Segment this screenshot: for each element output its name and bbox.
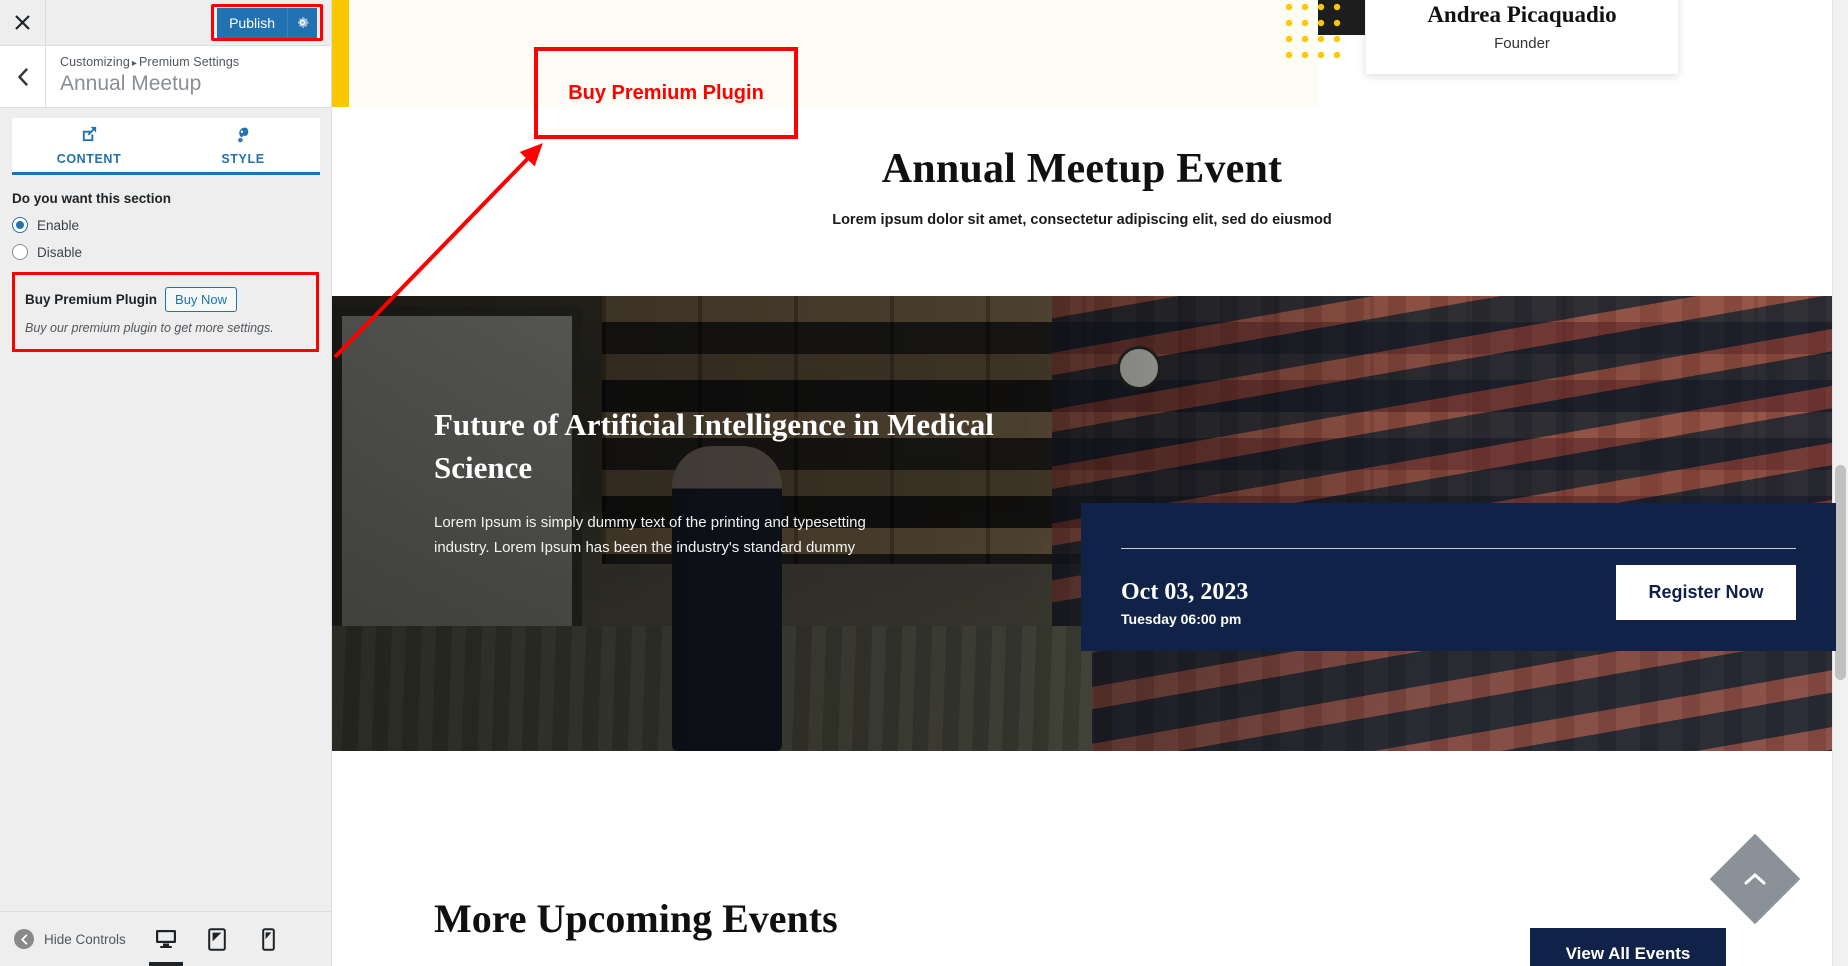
panel-body: Do you want this section Enable Disable … — [0, 175, 331, 352]
sidebar-footer: Hide Controls — [0, 911, 331, 966]
customizer-sidebar: Publish Customizing▸Premium Settings — [0, 0, 332, 966]
yellow-accent-bar — [332, 0, 349, 107]
preview-scrollbar[interactable] — [1832, 0, 1848, 966]
view-all-events-button[interactable]: View All Events — [1530, 928, 1726, 966]
dot-grid-decoration — [1284, 2, 1348, 64]
preview-top-band — [332, 0, 1318, 107]
tab-content-label: CONTENT — [57, 152, 122, 166]
sidebar-panel-header: Customizing▸Premium Settings Annual Meet… — [0, 46, 331, 108]
gear-icon[interactable] — [287, 8, 317, 38]
breadcrumb-root[interactable]: Customizing — [60, 55, 130, 69]
close-icon[interactable] — [0, 0, 46, 45]
premium-promo-title: Buy Premium Plugin — [25, 292, 157, 307]
radio-disable[interactable]: Disable — [12, 244, 319, 260]
site-preview-pane[interactable]: Andrea Picaquadio Founder Annual Meetup … — [332, 0, 1848, 966]
page-title: Annual Meetup — [60, 71, 239, 97]
featured-event-banner[interactable]: Future of Artificial Intelligence in Med… — [332, 296, 1836, 751]
event-date: Oct 03, 2023 — [1121, 579, 1248, 606]
customizer-screen: Publish Customizing▸Premium Settings — [0, 0, 1848, 966]
hide-controls-label: Hide Controls — [44, 932, 126, 947]
tab-content[interactable]: CONTENT — [12, 118, 166, 172]
event-time: Tuesday 06:00 pm — [1121, 611, 1248, 627]
paint-brush-icon — [234, 125, 253, 149]
more-events-title: More Upcoming Events — [434, 895, 838, 942]
tablet-icon[interactable] — [202, 919, 232, 959]
topbar-spacer — [46, 0, 211, 45]
section-subtitle: Lorem ipsum dolor sit amet, consectetur … — [332, 212, 1832, 228]
collapse-arrow-icon — [14, 929, 34, 949]
edit-pencil-icon — [80, 125, 99, 149]
founder-card: Andrea Picaquadio Founder — [1366, 0, 1678, 74]
radio-disable-input[interactable] — [12, 244, 28, 260]
event-date-card: Oct 03, 2023 Tuesday 06:00 pm Register N… — [1081, 503, 1836, 651]
radio-enable-label: Enable — [37, 218, 79, 233]
preview-scrollbar-thumb[interactable] — [1835, 465, 1846, 680]
event-datetime: Oct 03, 2023 Tuesday 06:00 pm — [1121, 579, 1248, 627]
breadcrumb-separator: ▸ — [130, 58, 139, 69]
section-header: Annual Meetup Event Lorem ipsum dolor si… — [332, 107, 1832, 228]
premium-promo-description: Buy our premium plugin to get more setti… — [25, 321, 306, 335]
monitor-icon[interactable] — [151, 919, 181, 959]
tab-style[interactable]: STYLE — [166, 118, 320, 172]
mobile-icon[interactable] — [253, 919, 283, 959]
publish-highlight: Publish — [211, 4, 323, 41]
publish-button[interactable]: Publish — [217, 8, 287, 38]
radio-enable[interactable]: Enable — [12, 217, 319, 233]
radio-enable-input[interactable] — [12, 217, 28, 233]
divider — [1121, 548, 1796, 549]
premium-promo-highlight: Buy Premium Plugin Buy Now Buy our premi… — [12, 272, 319, 352]
chevron-left-icon[interactable] — [0, 46, 46, 107]
panel-tabs: CONTENT STYLE — [12, 118, 320, 175]
section-question-label: Do you want this section — [12, 191, 319, 206]
hide-controls-button[interactable]: Hide Controls — [0, 929, 126, 949]
premium-promo-row: Buy Premium Plugin Buy Now — [25, 287, 306, 312]
sidebar-topbar: Publish — [0, 0, 331, 46]
banner-copy: Future of Artificial Intelligence in Med… — [434, 404, 994, 561]
chevron-up-icon[interactable] — [1710, 834, 1801, 925]
founder-name: Andrea Picaquadio — [1427, 2, 1616, 28]
register-now-button[interactable]: Register Now — [1616, 565, 1796, 620]
breadcrumb-current[interactable]: Premium Settings — [139, 55, 239, 69]
radio-disable-label: Disable — [37, 245, 82, 260]
buy-now-button[interactable]: Buy Now — [165, 287, 237, 312]
banner-heading: Future of Artificial Intelligence in Med… — [434, 404, 994, 490]
banner-paragraph: Lorem Ipsum is simply dummy text of the … — [434, 510, 906, 562]
panel-titles: Customizing▸Premium Settings Annual Meet… — [46, 46, 251, 107]
section-title: Annual Meetup Event — [332, 145, 1832, 193]
tab-style-label: STYLE — [221, 152, 264, 166]
founder-role: Founder — [1494, 35, 1550, 52]
device-preview-buttons — [151, 919, 331, 959]
breadcrumb: Customizing▸Premium Settings — [60, 54, 239, 70]
